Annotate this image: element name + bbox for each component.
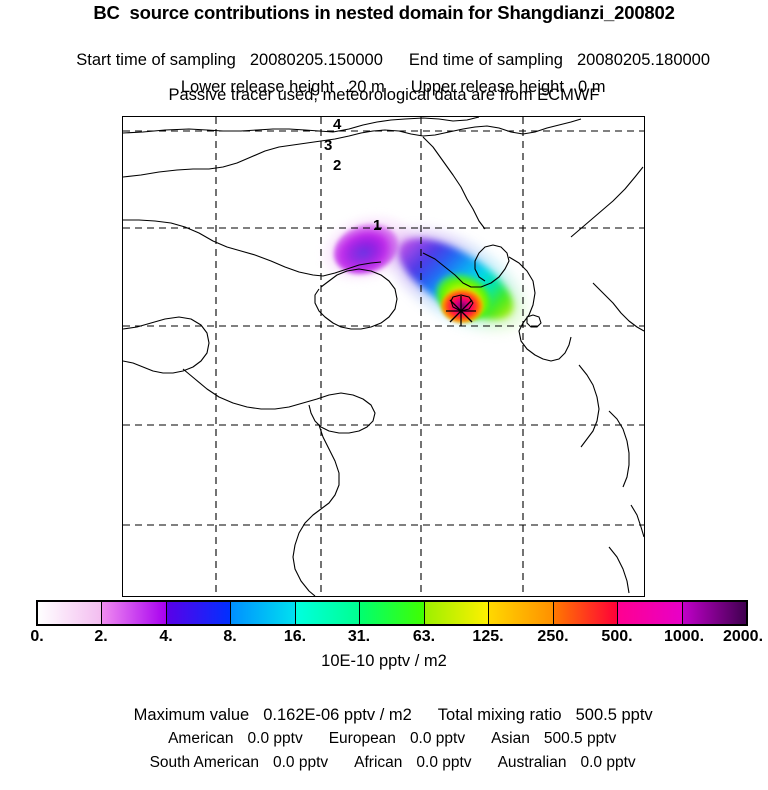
region-row-2: South American0.0 pptvAfrican0.0 pptvAus… [0, 736, 768, 790]
region-australian-value: 0.0 pptv [581, 754, 636, 771]
map-annotation-3: 3 [324, 137, 332, 154]
colorbar-tick: 4. [159, 628, 172, 646]
colorbar-tick: 31. [348, 628, 370, 646]
region-african-label: African [354, 754, 402, 771]
colorbar-segment [360, 602, 424, 624]
coastlines [123, 117, 644, 596]
map-annotation-1: 1 [373, 217, 381, 234]
colorbar-segment [102, 602, 166, 624]
colorbar-tick: 2. [94, 628, 107, 646]
colorbar-segment [618, 602, 682, 624]
region-australian-label: Australian [498, 754, 567, 771]
colorbar-segment [683, 602, 746, 624]
colorbar-tick: 8. [223, 628, 236, 646]
colorbar-ticks: 0. 2. 4. 8. 16. 31. 63. 125. 250. 500. 1… [36, 628, 748, 650]
map-annotation-4: 4 [333, 116, 341, 133]
colorbar-segment [554, 602, 618, 624]
colorbar-segment [425, 602, 489, 624]
colorbar-tick: 63. [413, 628, 435, 646]
colorbar-segment [489, 602, 553, 624]
colorbar: 0. 2. 4. 8. 16. 31. 63. 125. 250. 500. 1… [36, 600, 748, 626]
region-south-american-label: South American [150, 754, 259, 771]
colorbar-tick: 250. [537, 628, 568, 646]
colorbar-tick: 16. [284, 628, 306, 646]
colorbar-tick: 0. [30, 628, 43, 646]
colorbar-unit-label: 10E-10 pptv / m2 [0, 652, 768, 671]
map-annotation-2: 2 [333, 157, 341, 174]
graticule [123, 117, 644, 596]
colorbar-segment [38, 602, 102, 624]
region-african-value: 0.0 pptv [416, 754, 471, 771]
tracer-note: Passive tracer used, meteorological data… [0, 86, 768, 105]
colorbar-tick: 2000. [723, 628, 763, 646]
colorbar-segment [231, 602, 295, 624]
region-south-american-value: 0.0 pptv [273, 754, 328, 771]
colorbar-tick: 500. [601, 628, 632, 646]
colorbar-tick: 125. [472, 628, 503, 646]
colorbar-gradient [36, 600, 748, 626]
colorbar-tick: 1000. [664, 628, 704, 646]
receptor-star-icon [446, 296, 476, 326]
map-panel[interactable]: 4 3 2 1 [122, 116, 645, 597]
map-vector-layer [123, 117, 644, 596]
colorbar-segment [296, 602, 360, 624]
colorbar-segment [167, 602, 231, 624]
flexpart-footprint-plot: BC source contributions in nested domain… [0, 0, 768, 768]
page-title: BC source contributions in nested domain… [0, 2, 768, 24]
